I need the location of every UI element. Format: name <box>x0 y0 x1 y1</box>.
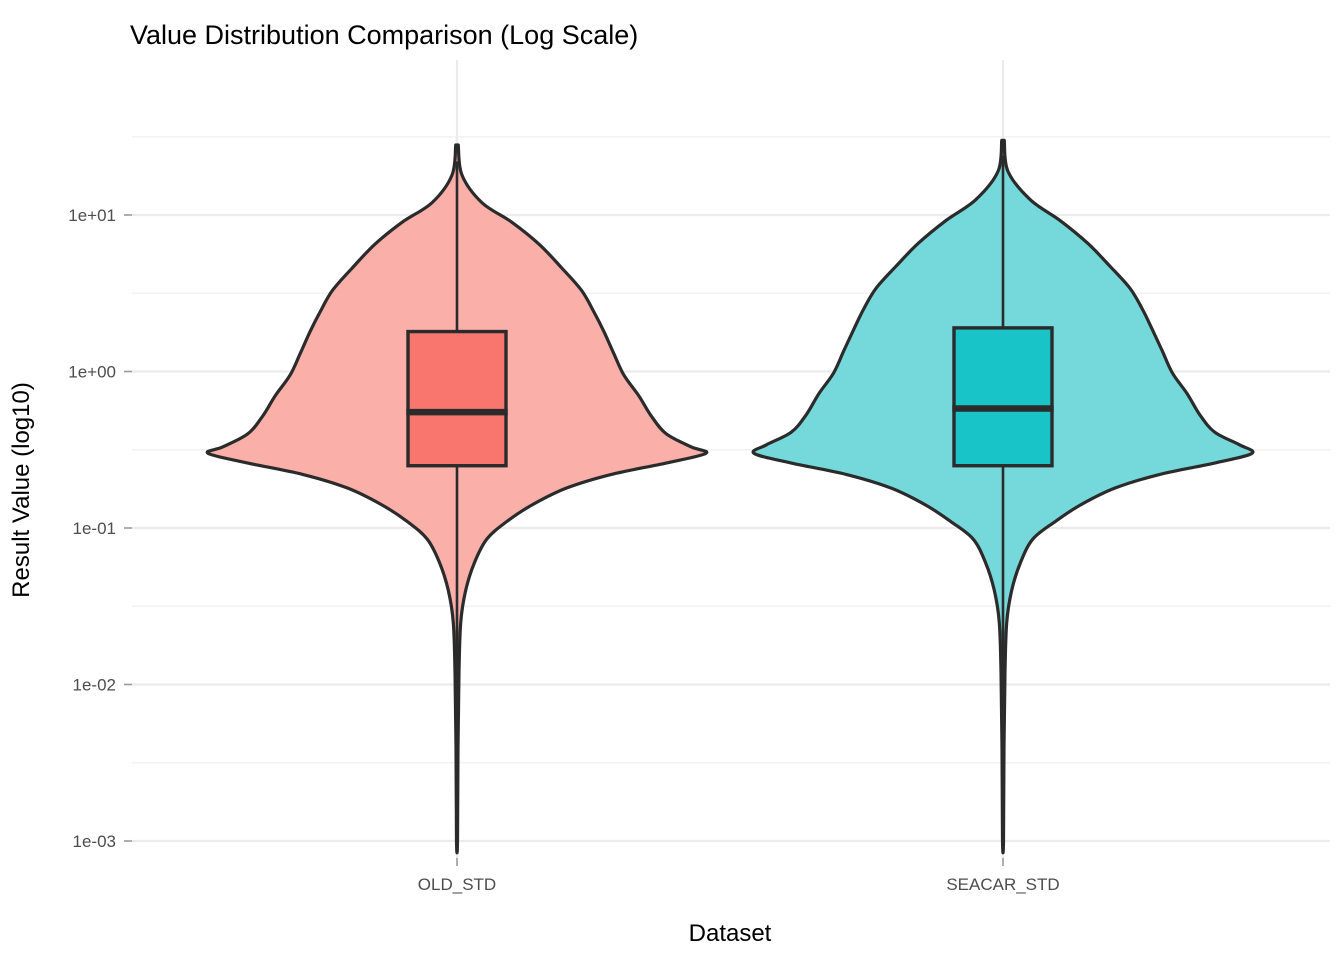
x-tick-label-OLD_STD: OLD_STD <box>418 875 496 894</box>
y-axis-title: Result Value (log10) <box>8 382 35 598</box>
y-tick-label-1e-02: 1e-02 <box>73 676 116 695</box>
x-tick-label-SEACAR_STD: SEACAR_STD <box>946 875 1059 894</box>
boxplot-box-SEACAR_STD[interactable] <box>954 328 1052 466</box>
violin-plot-figure: 1e+011e+001e-011e-021e-03 OLD_STDSEACAR_… <box>0 0 1344 960</box>
plot-canvas: 1e+011e+001e-011e-021e-03 OLD_STDSEACAR_… <box>0 0 1344 960</box>
x-axis-title: Dataset <box>689 920 772 947</box>
y-tick-label-1e+01: 1e+01 <box>68 206 116 225</box>
y-tick-label-1e-03: 1e-03 <box>73 832 116 851</box>
boxplot-box-OLD_STD[interactable] <box>408 332 506 466</box>
y-tick-label-1e-01: 1e-01 <box>73 519 116 538</box>
y-tick-label-1e+00: 1e+00 <box>68 363 116 382</box>
chart-title: Value Distribution Comparison (Log Scale… <box>130 20 638 50</box>
